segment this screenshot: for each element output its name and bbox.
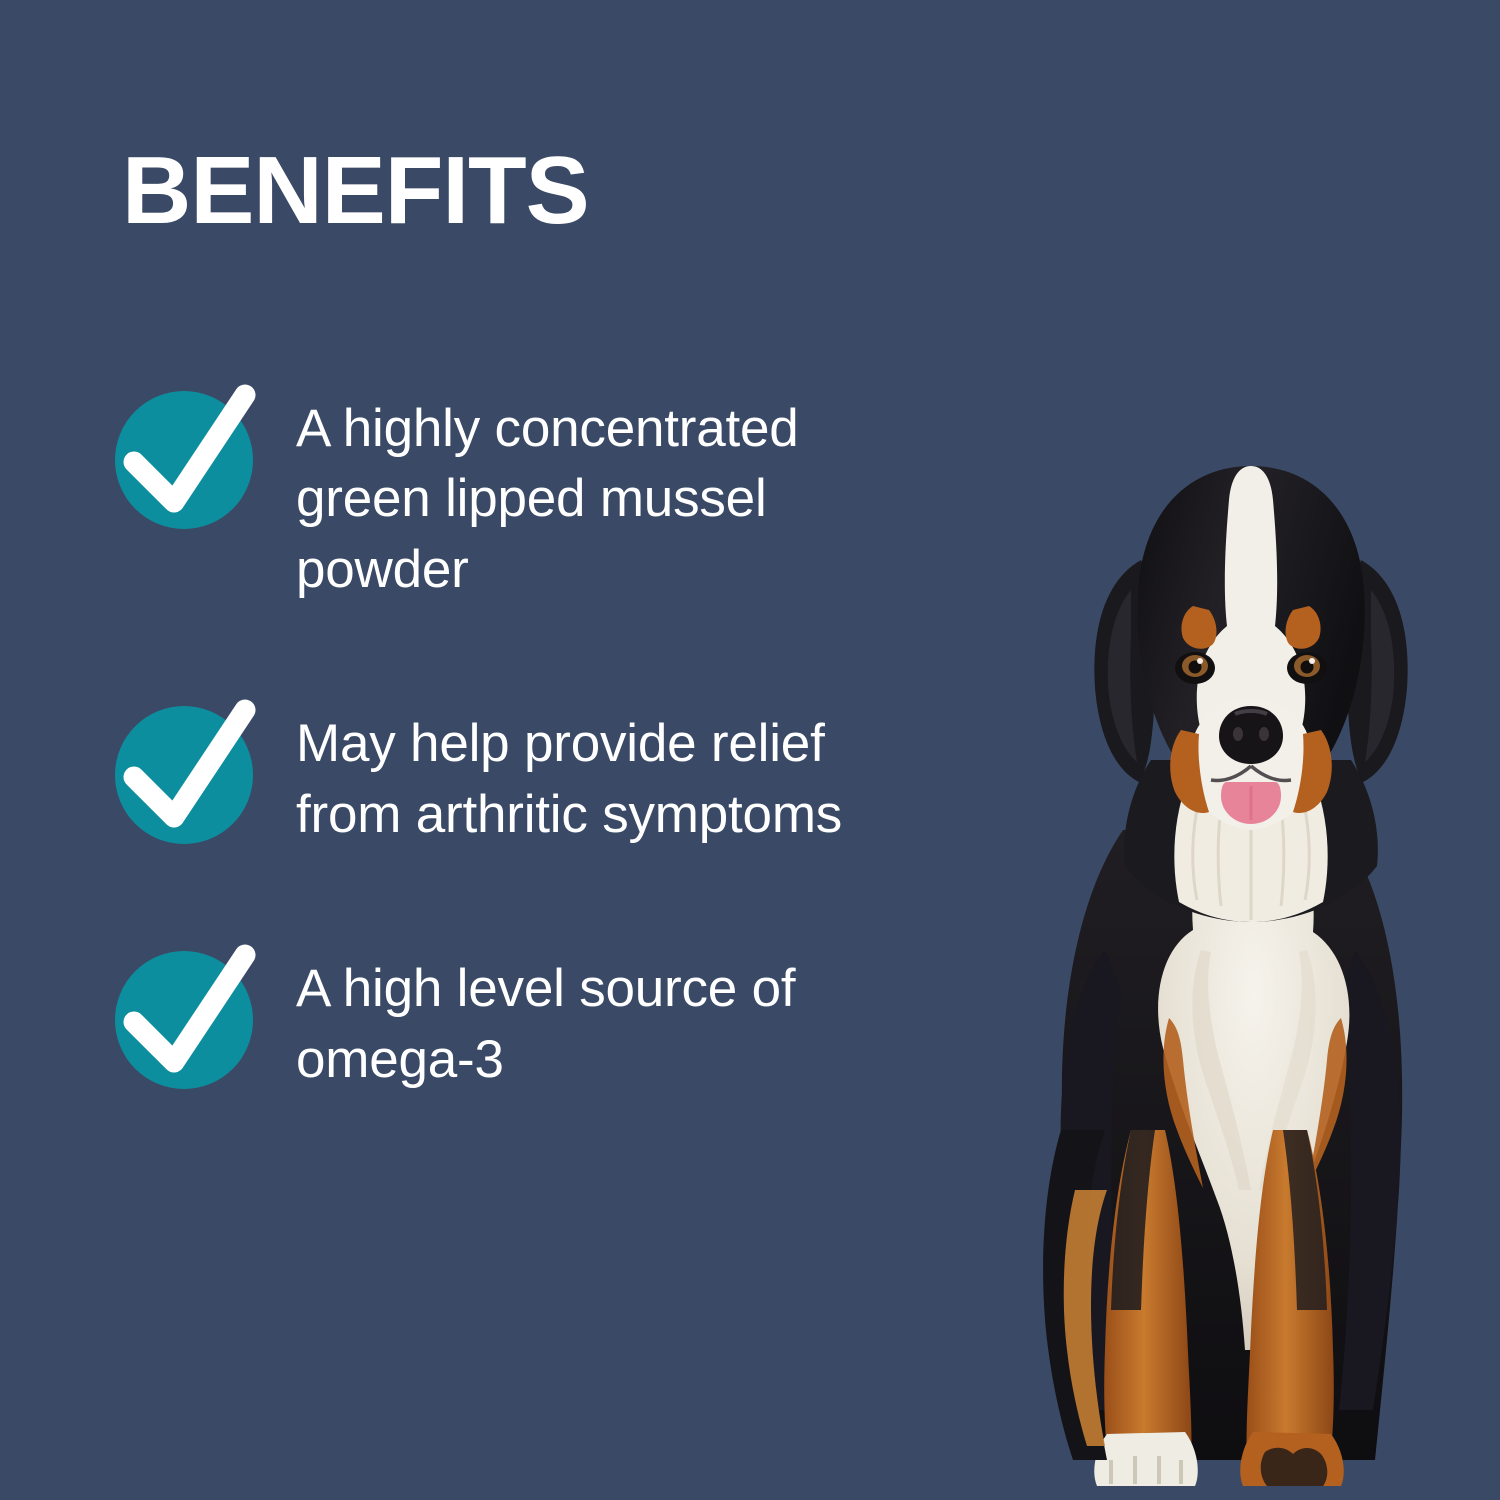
benefits-infographic: BENEFITS A highly concentrated green lip… [0, 0, 1500, 1500]
benefit-item: May help provide relief from arthritic s… [112, 697, 902, 850]
page-title: BENEFITS [122, 143, 589, 239]
benefit-text: A highly concentrated green lipped musse… [296, 382, 902, 605]
benefits-list: A highly concentrated green lipped musse… [112, 382, 902, 1095]
benefit-item: A highly concentrated green lipped musse… [112, 382, 902, 605]
benefit-text: May help provide relief from arthritic s… [296, 697, 902, 850]
benefit-item: A high level source of omega-3 [112, 942, 902, 1095]
bernese-mountain-dog-photo [955, 430, 1500, 1500]
check-circle-icon [112, 382, 272, 532]
check-circle-icon [112, 697, 272, 847]
dog-head [1094, 466, 1407, 830]
benefit-text: A high level source of omega-3 [296, 942, 902, 1095]
check-circle-icon [112, 942, 272, 1092]
